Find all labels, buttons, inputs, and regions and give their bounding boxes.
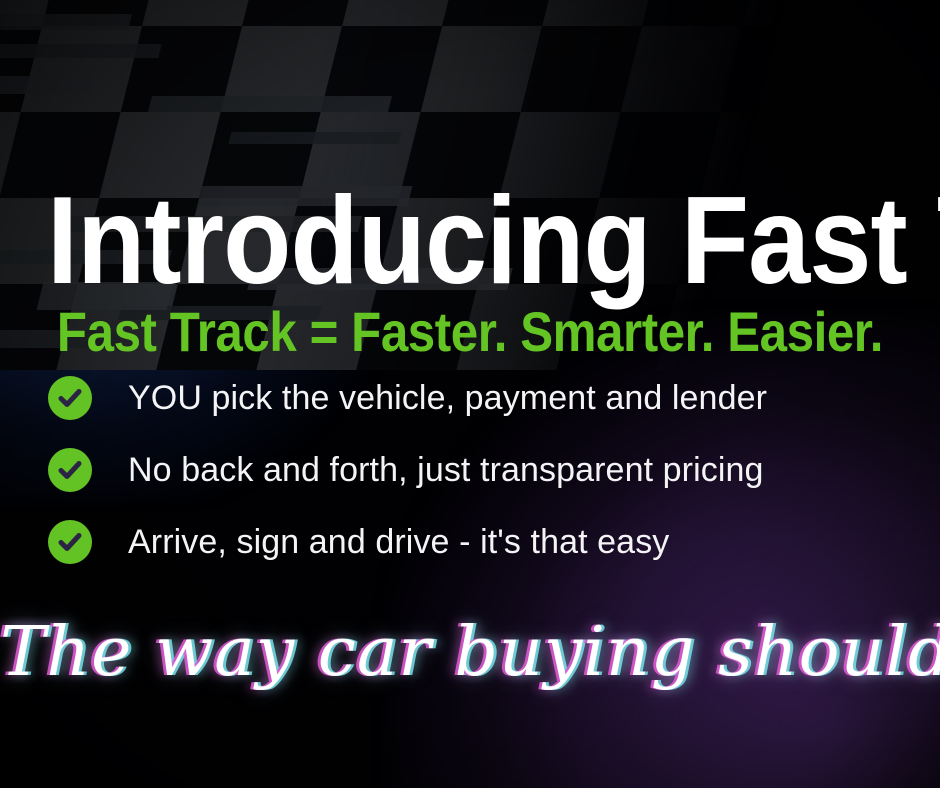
check-circle-icon [48, 520, 92, 564]
list-item: YOU pick the vehicle, payment and lender [48, 376, 908, 420]
check-circle-icon [48, 376, 92, 420]
tagline: The way car buying should be. [0, 612, 940, 694]
list-item-label: YOU pick the vehicle, payment and lender [128, 381, 767, 415]
subtitle: Fast Track = Faster. Smarter. Easier. [56, 304, 883, 360]
benefits-list: YOU pick the vehicle, payment and lender… [48, 376, 908, 592]
list-item: Arrive, sign and drive - it's that easy [48, 520, 908, 564]
list-item-label: Arrive, sign and drive - it's that easy [128, 525, 669, 559]
list-item-label: No back and forth, just transparent pric… [128, 453, 764, 487]
list-item: No back and forth, just transparent pric… [48, 448, 908, 492]
fast-track-promo-poster: Introducing Fast Track Fast Track = Fast… [0, 0, 940, 788]
page-title: Introducing Fast Track [47, 179, 893, 303]
check-circle-icon [48, 448, 92, 492]
